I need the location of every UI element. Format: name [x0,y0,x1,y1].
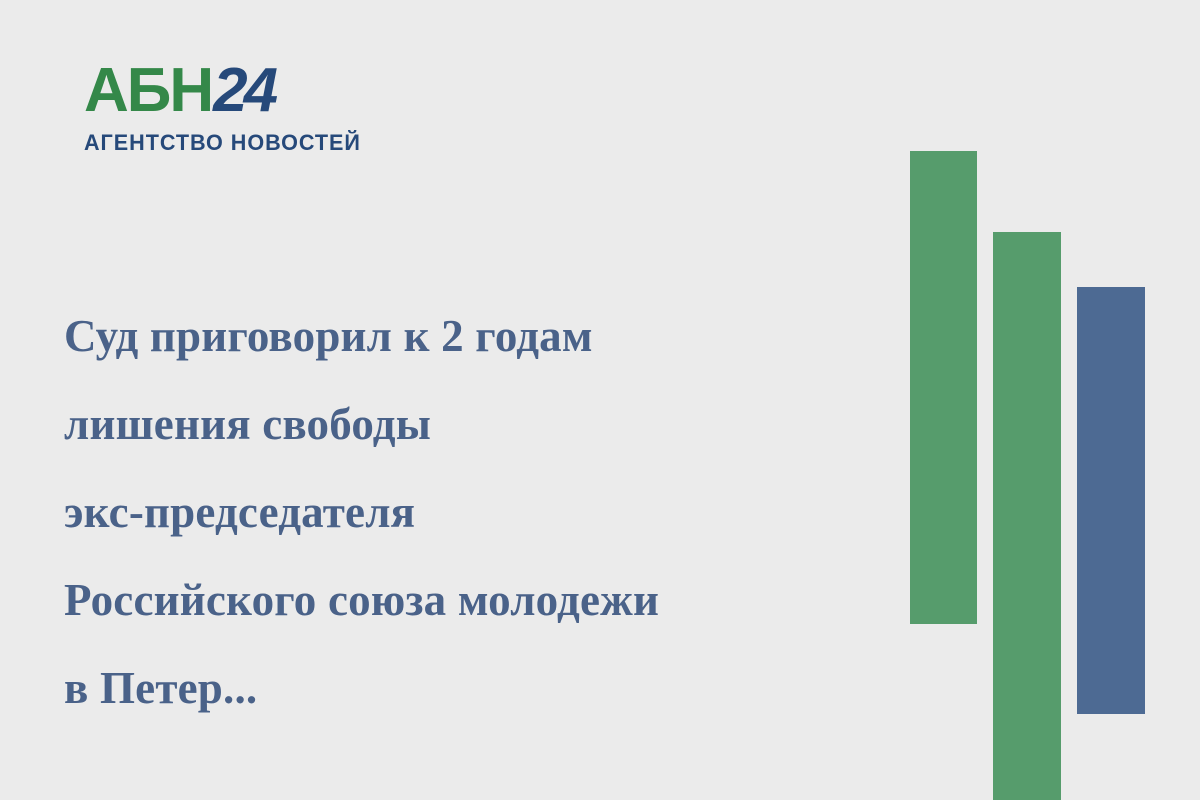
abn24-logo[interactable]: АБН24 АГЕНТСТВО НОВОСТЕЙ [84,62,374,156]
logo-wordmark-abn: АБН [84,56,212,125]
headline-line-1: Суд приговорил к 2 годам [64,292,864,380]
decorative-bar-1 [910,151,977,624]
headline-line-2: лишения свободы [64,380,864,468]
logo-tagline: АГЕНТСТВО НОВОСТЕЙ [84,130,362,156]
headline: Суд приговорил к 2 годам лишения свободы… [64,292,864,732]
headline-line-4: Российского союза молодежи [64,556,864,644]
logo-wordmark: АБН24 [84,62,374,120]
decorative-bar-3 [1077,287,1145,714]
headline-line-3: экс-председателя [64,468,864,556]
headline-line-5: в Петер... [64,644,864,732]
news-card: АБН24 АГЕНТСТВО НОВОСТЕЙ Суд приговорил … [0,0,1200,800]
logo-wordmark-24: 24 [213,56,274,125]
decorative-bar-2 [993,232,1061,800]
